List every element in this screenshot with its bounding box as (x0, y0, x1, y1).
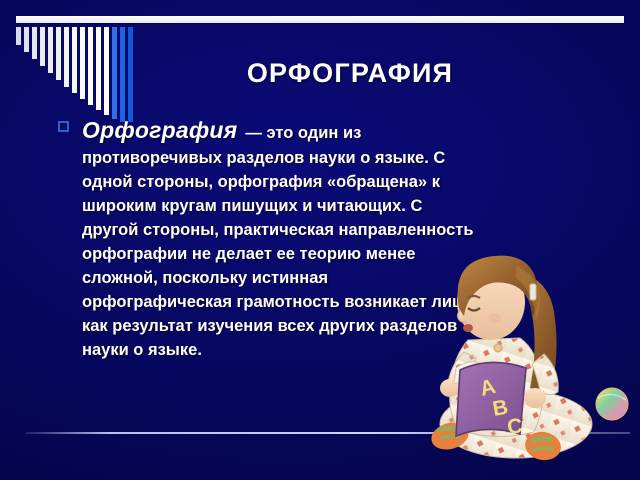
cheek (489, 313, 501, 323)
lead-term: Орфография (82, 117, 237, 143)
top-horizontal-rule (16, 16, 624, 23)
decorative-bar-3 (32, 27, 37, 59)
list-item: Орфография— это один из противоречивых р… (58, 114, 478, 363)
decorative-bar-2 (24, 27, 29, 52)
body-content: Орфография— это один из противоречивых р… (58, 114, 478, 363)
bottom-horizontal-rule (26, 432, 630, 434)
body-paragraph: Орфография— это один из противоречивых р… (82, 114, 478, 363)
sock-right (523, 429, 563, 463)
collar-button (494, 344, 502, 352)
toy-ball (596, 388, 628, 420)
abc-book: A B C (456, 362, 526, 439)
em-dash: — (245, 124, 262, 142)
decorative-bar-1 (16, 27, 21, 45)
hair-clip (530, 284, 536, 300)
presentation-slide: ОРФОГРАФИЯ Орфография— это один из проти… (0, 0, 640, 480)
svg-text:B: B (491, 396, 510, 421)
hand-left (440, 379, 460, 397)
paragraph-text: это один из противоречивых разделов наук… (82, 124, 476, 359)
hand-right (524, 388, 546, 408)
square-bullet-icon (58, 121, 69, 132)
svg-text:C: C (506, 415, 523, 439)
svg-text:A: A (478, 375, 498, 401)
page-title: ОРФОГРАФИЯ (0, 58, 640, 89)
sock-left (428, 418, 472, 453)
